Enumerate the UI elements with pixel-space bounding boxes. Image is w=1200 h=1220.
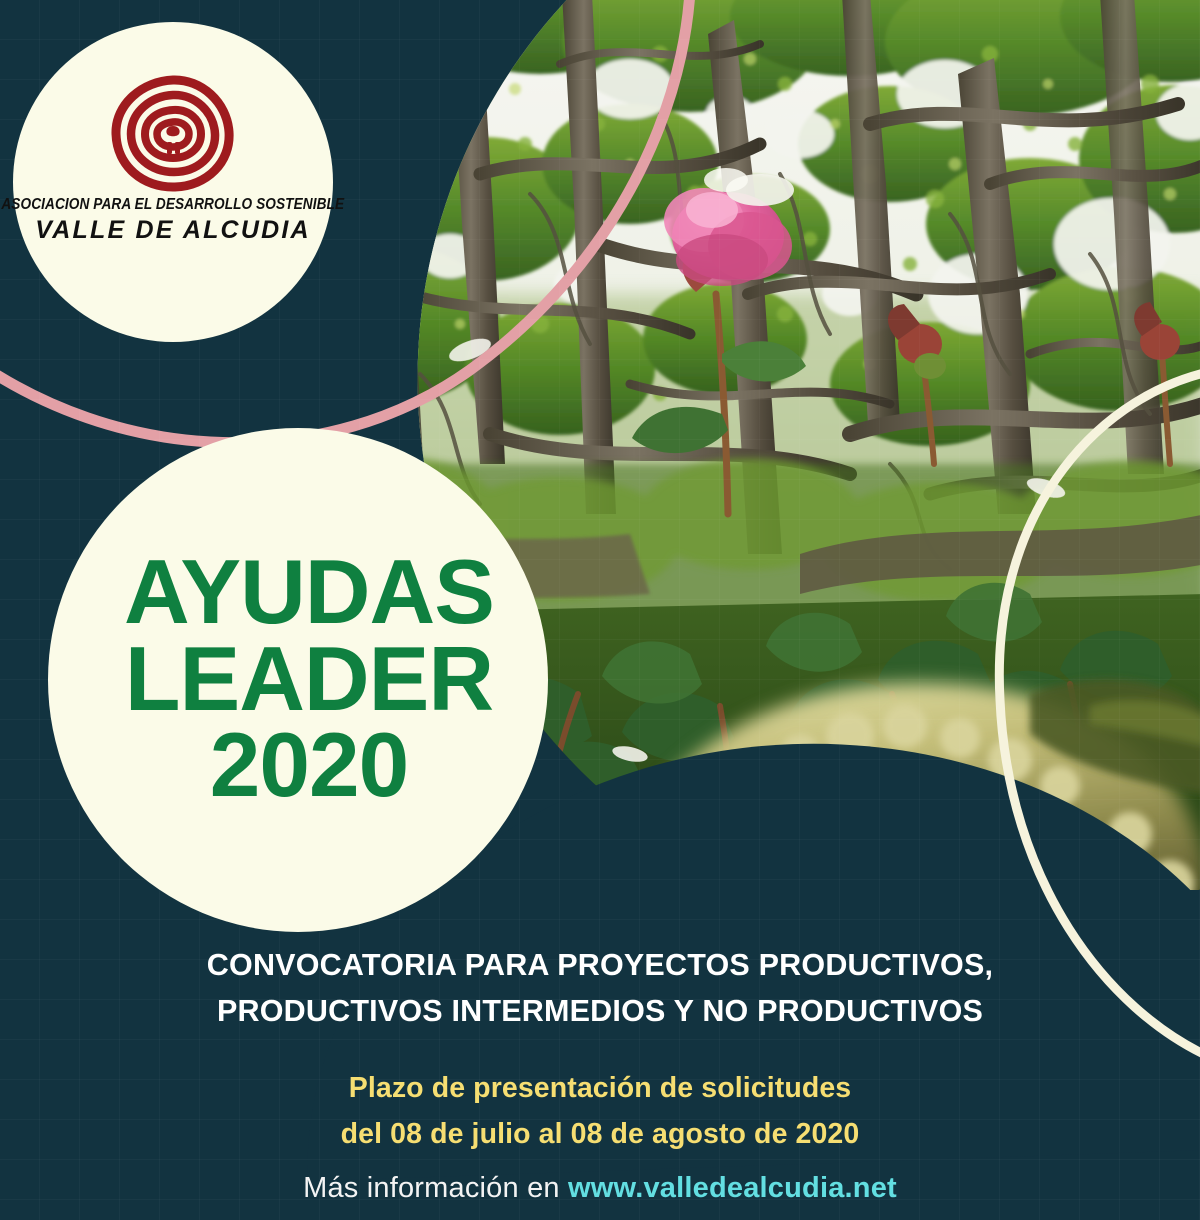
- logo-name: VALLE DE ALCUDIA: [35, 216, 310, 245]
- poster-root: ASOCIACION PARA EL DESARROLLO SOSTENIBLE…: [0, 0, 1200, 1220]
- headline-line-2: LEADER: [70, 638, 548, 723]
- deadline-block: Plazo de presentación de solicitudes del…: [0, 1065, 1200, 1157]
- headline-line-3: 2020: [70, 724, 548, 809]
- deadline-line-1: Plazo de presentación de solicitudes: [0, 1065, 1200, 1111]
- headline-text: AYUDAS LEADER 2020: [48, 551, 548, 809]
- organization-logo-badge: ASOCIACION PARA EL DESARROLLO SOSTENIBLE…: [13, 22, 333, 342]
- deadline-line-2: del 08 de julio al 08 de agosto de 2020: [0, 1111, 1200, 1157]
- tree-ring-spiral-icon: [109, 74, 237, 192]
- poster-copy: CONVOCATORIA PARA PROYECTOS PRODUCTIVOS,…: [0, 942, 1200, 1205]
- headline-line-1: AYUDAS: [70, 551, 548, 636]
- more-info-line: Más información en www.valledealcudia.ne…: [0, 1172, 1200, 1205]
- more-info-prefix: Más información en: [303, 1172, 568, 1204]
- headline-badge: AYUDAS LEADER 2020: [48, 428, 548, 932]
- logo-tagline: ASOCIACION PARA EL DESARROLLO SOSTENIBLE: [2, 196, 345, 214]
- website-url[interactable]: www.valledealcudia.net: [568, 1172, 897, 1204]
- convocatoria-line-1: CONVOCATORIA PARA PROYECTOS PRODUCTIVOS,: [0, 942, 1200, 988]
- convocatoria-line-2: PRODUCTIVOS INTERMEDIOS Y NO PRODUCTIVOS: [0, 988, 1200, 1034]
